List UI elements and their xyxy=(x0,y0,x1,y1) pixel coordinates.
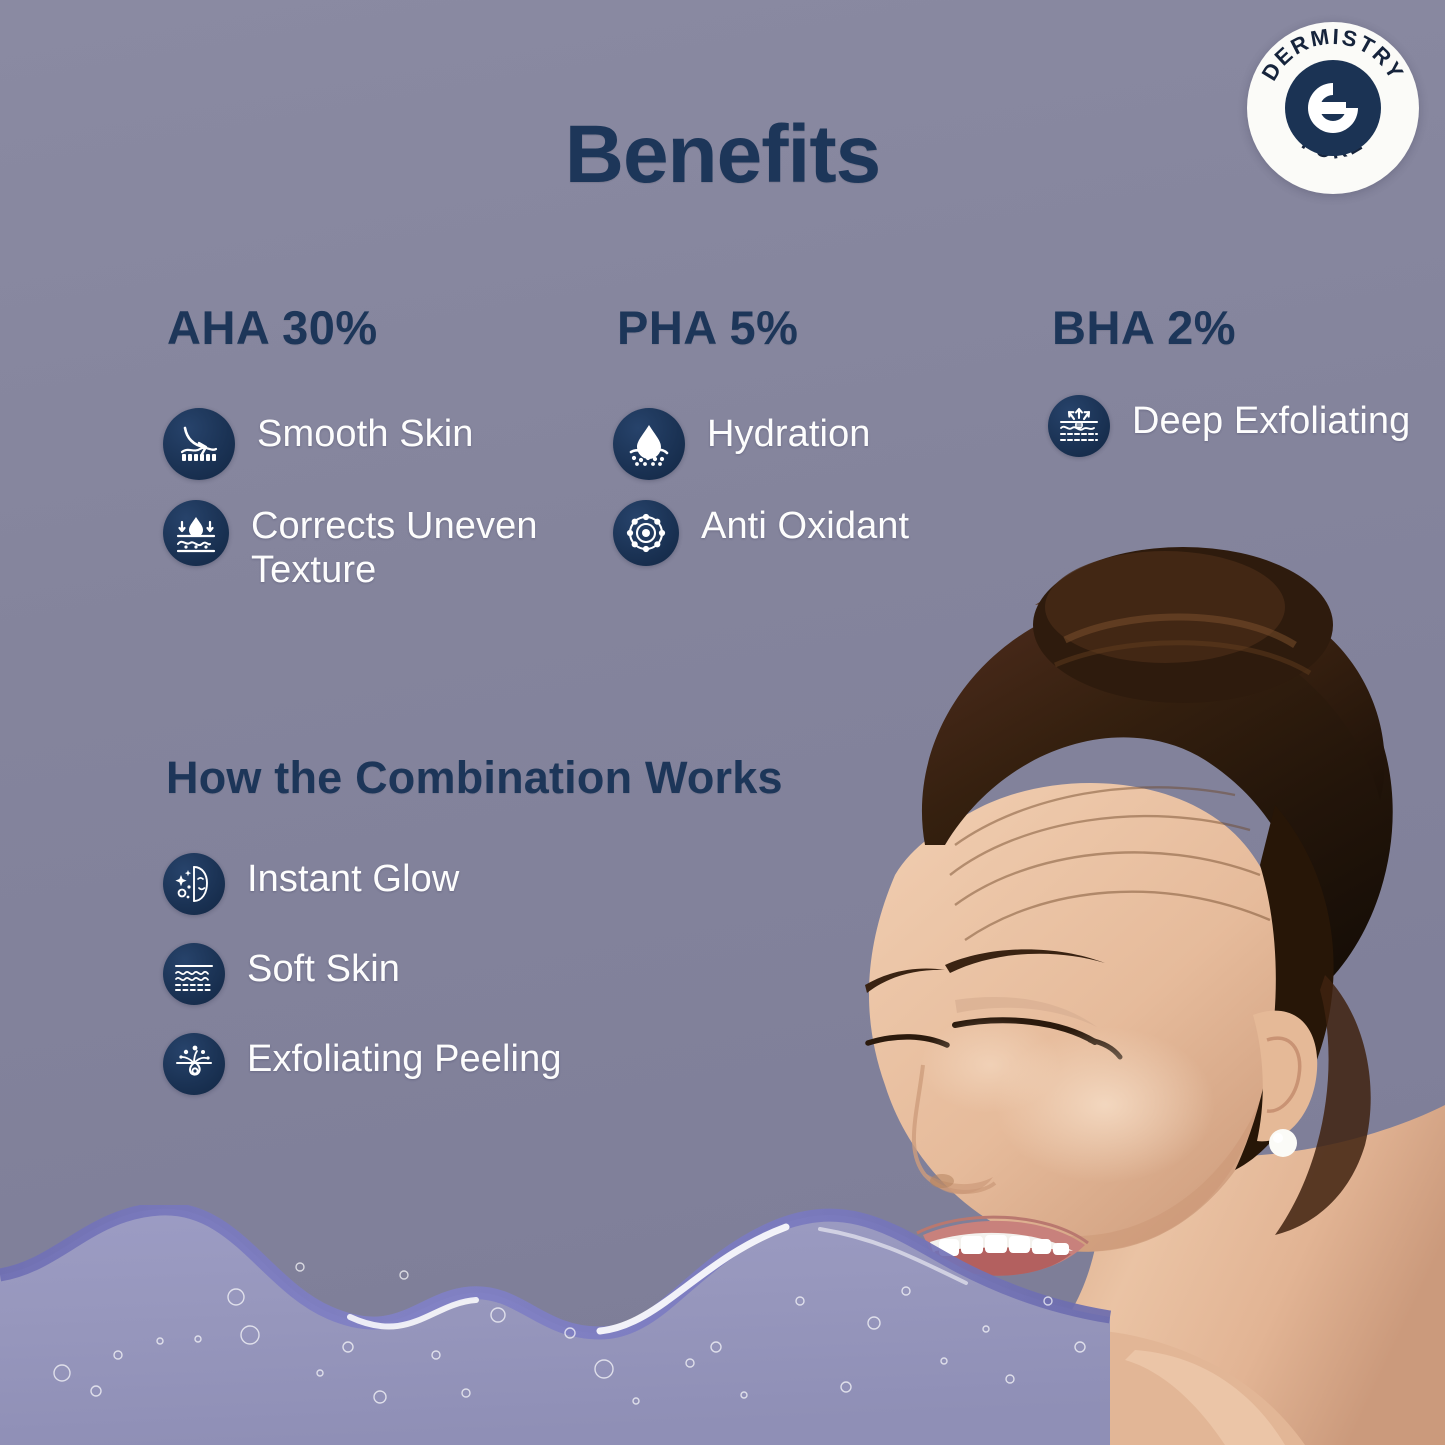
combination-row-instant-glow: Instant Glow xyxy=(163,853,763,915)
instant-glow-face-icon xyxy=(163,853,225,915)
acid-heading-aha: AHA 30% xyxy=(167,300,378,355)
model-photo xyxy=(805,545,1445,1445)
benefit-row-anti-oxidant: Anti Oxidant xyxy=(613,500,1013,566)
combination-label: Instant Glow xyxy=(247,853,459,901)
benefit-row-deep-exfoliating: Deep Exfoliating xyxy=(1048,395,1428,457)
combination-label: Soft Skin xyxy=(247,943,400,991)
benefit-row-uneven-texture: Corrects Uneven Texture xyxy=(163,500,593,592)
combination-heading: How the Combination Works xyxy=(166,752,783,804)
exfoliating-pore-icon xyxy=(163,1033,225,1095)
acid-heading-bha: BHA 2% xyxy=(1052,300,1236,355)
uneven-texture-icon xyxy=(163,500,229,566)
benefit-label: Deep Exfoliating xyxy=(1132,395,1410,443)
soft-skin-waves-icon xyxy=(163,943,225,1005)
benefit-label: Corrects Uneven Texture xyxy=(251,500,593,592)
smooth-skin-icon xyxy=(163,408,235,480)
page-title: Benefits xyxy=(0,108,1445,202)
benefit-row-hydration: Hydration xyxy=(613,408,1013,480)
gel-wave-graphic xyxy=(0,1205,1445,1445)
benefit-row-smooth-skin: Smooth Skin xyxy=(163,408,593,480)
combination-row-soft-skin: Soft Skin xyxy=(163,943,763,1005)
anti-oxidant-molecule-icon xyxy=(613,500,679,566)
benefits-infographic: DERMISTRY PURE Benefits AHA 30% PHA 5% B… xyxy=(0,0,1445,1445)
combination-row-exfoliating-peeling: Exfoliating Peeling xyxy=(163,1033,763,1095)
benefit-label: Hydration xyxy=(707,408,871,456)
combination-label: Exfoliating Peeling xyxy=(247,1033,562,1081)
acid-heading-pha: PHA 5% xyxy=(617,300,798,355)
benefit-label: Smooth Skin xyxy=(257,408,474,456)
deep-exfoliating-icon xyxy=(1048,395,1110,457)
benefit-label: Anti Oxidant xyxy=(701,500,909,548)
hydration-droplet-icon xyxy=(613,408,685,480)
